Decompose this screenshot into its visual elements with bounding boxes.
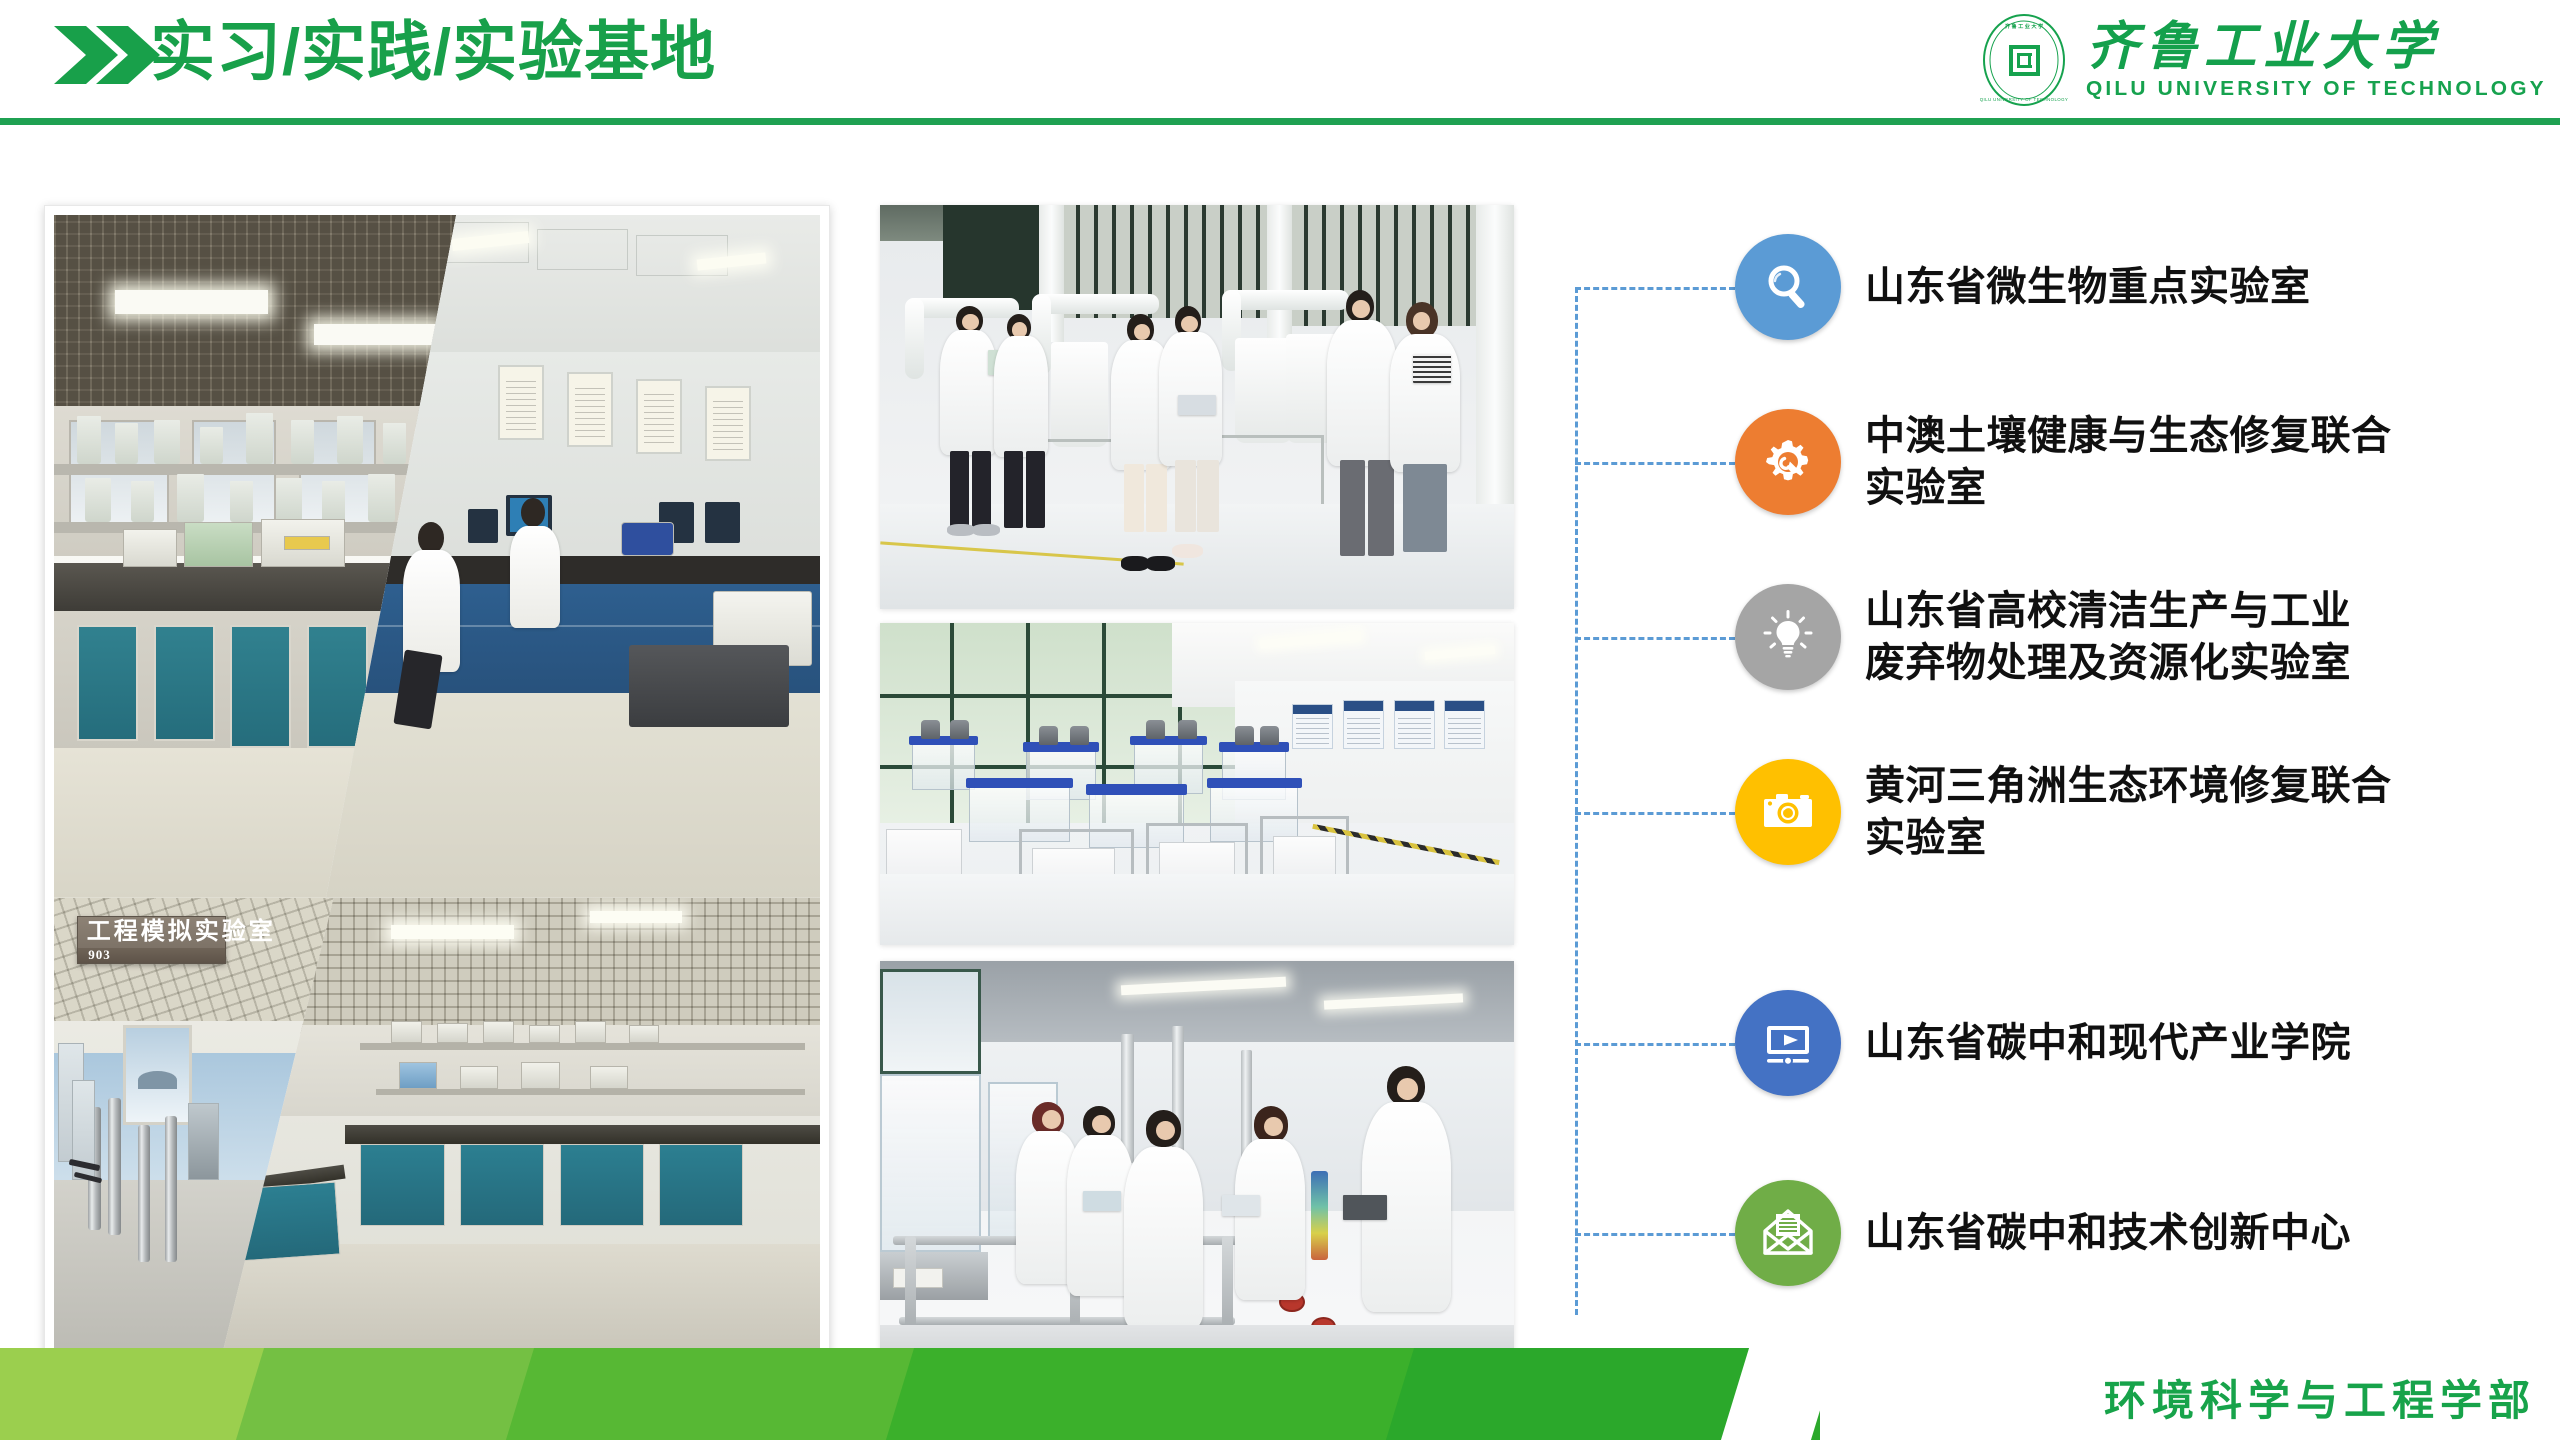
middle-photo-stack (880, 205, 1514, 1365)
connector-branch-1 (1575, 287, 1735, 290)
lab-photo-collage: 工程模拟实验室 903 (44, 205, 830, 1363)
list-item-microbiology-key-lab[interactable]: 山东省微生物重点实验室 (1735, 234, 2311, 340)
envelope-icon (1735, 1180, 1841, 1286)
footer-stripe-4 (886, 1348, 1474, 1440)
camera-icon (1735, 759, 1841, 865)
list-item-carbon-neutral-industry-college[interactable]: 山东省碳中和现代产业学院 (1735, 990, 2351, 1096)
svg-text:齐 鲁 工 业 大 学: 齐 鲁 工 业 大 学 (2005, 22, 2043, 30)
list-item-label: 山东省高校清洁生产与工业 废弃物处理及资源化实验室 (1865, 585, 2351, 689)
photo-students-acrylic-tank-lab (880, 961, 1514, 1365)
logo-name-en: QILU UNIVERSITY OF TECHNOLOGY (2086, 77, 2547, 101)
svg-text:QILU UNIVERSITY OF TECHNOLOGY: QILU UNIVERSITY OF TECHNOLOGY (1980, 97, 2069, 102)
photo-students-bag-filter-hall (880, 205, 1514, 609)
list-item-label: 黄河三角洲生态环境修复联合 实验室 (1865, 760, 2392, 864)
connector-branch-4 (1575, 812, 1735, 815)
slide-header: 实习/实践/实验基地 齐 鲁 工 业 大 学 (0, 0, 2560, 124)
list-item-label: 山东省微生物重点实验室 (1865, 261, 2311, 313)
connector-branch-6 (1575, 1233, 1735, 1236)
lab-platform-list: 山东省微生物重点实验室 中澳土壤健康与生态修复联合 实验室 (1575, 205, 2535, 1365)
photo-water-treatment-pilot-plant (880, 623, 1514, 945)
slide-footer: 环境科学与工程学部 (0, 1348, 2560, 1440)
lab-room-number: 903 (88, 947, 111, 963)
connector-branch-5 (1575, 1043, 1735, 1046)
list-item-sino-australian-soil-lab[interactable]: 中澳土壤健康与生态修复联合 实验室 (1735, 409, 2392, 515)
list-item-label: 山东省碳中和技术创新中心 (1865, 1207, 2351, 1259)
page-title: 实习/实践/实验基地 (150, 10, 716, 94)
header-divider (0, 118, 2560, 125)
list-item-clean-production-lab[interactable]: 山东省高校清洁生产与工业 废弃物处理及资源化实验室 (1735, 584, 2351, 690)
logo-name-cn: 齐鲁工业大学 (2086, 19, 2440, 77)
qilu-university-seal-icon: 齐 鲁 工 业 大 学 QILU UNIVERSITY OF TECHNOLOG… (1976, 12, 2072, 108)
connector-branch-3 (1575, 637, 1735, 640)
university-logo: 齐 鲁 工 业 大 学 QILU UNIVERSITY OF TECHNOLOG… (1976, 8, 2538, 112)
double-chevron-right-icon (52, 24, 162, 86)
gear-wrench-icon (1735, 409, 1841, 515)
magnifier-icon (1735, 234, 1841, 340)
lab-room-sign: 工程模拟实验室 903 (77, 916, 226, 964)
connector-branch-2 (1575, 462, 1735, 465)
footer-department-name: 环境科学与工程学部 (2104, 1378, 2536, 1426)
lightbulb-icon (1735, 584, 1841, 690)
list-item-carbon-neutral-innovation-center[interactable]: 山东省碳中和技术创新中心 (1735, 1180, 2351, 1286)
footer-stripe-3 (506, 1348, 954, 1440)
lab-room-sign-text: 工程模拟实验室 (87, 921, 220, 944)
list-item-label: 中澳土壤健康与生态修复联合 实验室 (1865, 410, 2392, 514)
list-item-label: 山东省碳中和现代产业学院 (1865, 1017, 2351, 1069)
video-player-icon (1735, 990, 1841, 1096)
connector-spine (1575, 287, 1578, 1315)
list-item-yellow-river-delta-lab[interactable]: 黄河三角洲生态环境修复联合 实验室 (1735, 759, 2392, 865)
